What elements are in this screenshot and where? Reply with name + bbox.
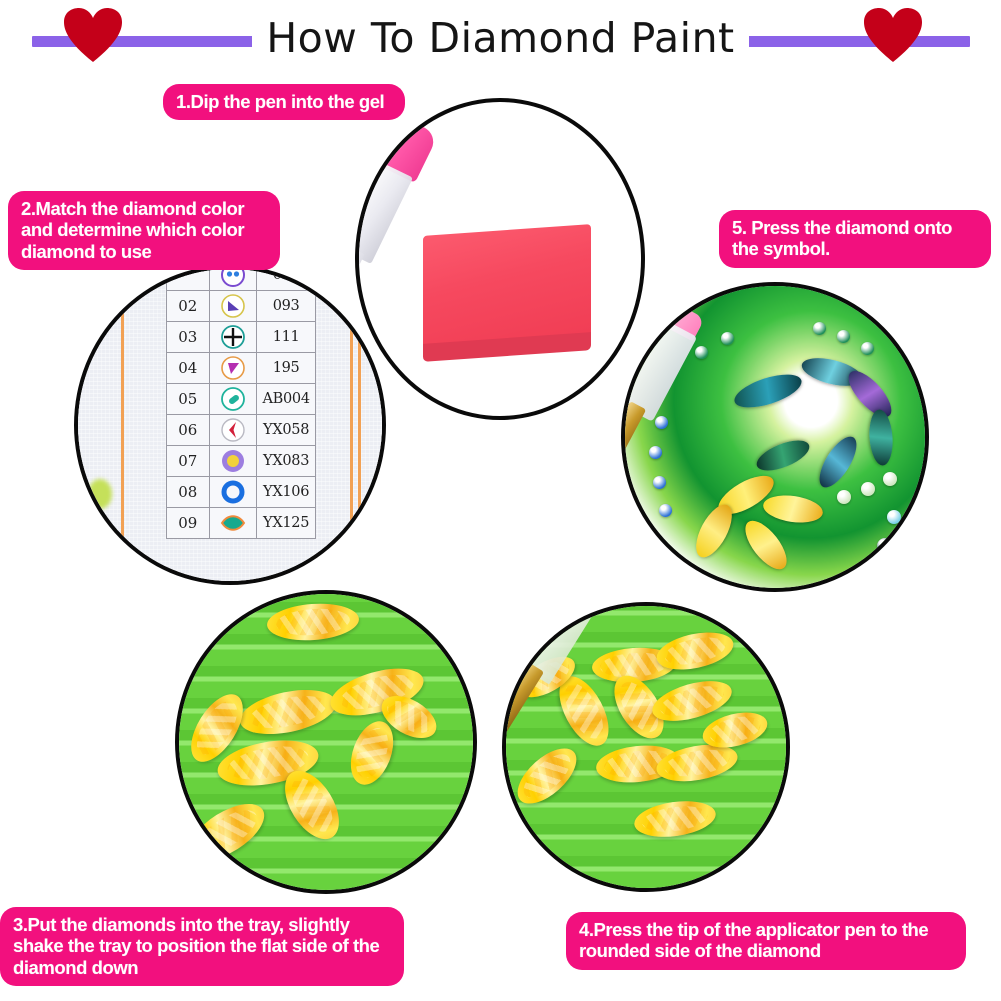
step-label-2: 2.Match the diamond color and determine … <box>8 191 280 270</box>
legend-row: 02093 <box>167 291 316 322</box>
photo-color-legend: 02802093031110419505AB00406YX05807YX0830… <box>78 269 382 581</box>
yellow-dot-ring-icon <box>220 448 246 474</box>
gem-round <box>655 416 668 429</box>
legend-dmc-id: YX058 <box>257 415 316 446</box>
legend-symbol-cell <box>209 322 257 353</box>
step-label-5: 5. Press the diamond onto the symbol. <box>719 210 991 268</box>
gem-round <box>659 504 672 517</box>
legend-code: 08 <box>167 477 210 508</box>
plus-cross-icon <box>220 324 246 350</box>
legend-symbol-cell <box>209 353 257 384</box>
gem-round <box>695 346 708 359</box>
left-chevron-icon <box>220 417 246 443</box>
legend-symbol-cell <box>209 291 257 322</box>
magenta-triangle-icon <box>220 355 246 381</box>
legend-dmc-id: 195 <box>257 353 316 384</box>
legend-symbol-cell <box>209 477 257 508</box>
legend-row: 09YX125 <box>167 508 316 539</box>
legend-dmc-id: YX125 <box>257 508 316 539</box>
photo-diamond-tray <box>179 594 473 890</box>
legend-dmc-id: 111 <box>257 322 316 353</box>
step-label-3: 3.Put the diamonds into the tray, slight… <box>0 907 404 986</box>
blue-ring-icon <box>220 479 246 505</box>
legend-row: 07YX083 <box>167 446 316 477</box>
photo-pen-picking-diamond <box>506 606 786 888</box>
legend-row: 04195 <box>167 353 316 384</box>
legend-symbol-cell <box>209 508 257 539</box>
chart-margin-line <box>350 269 353 581</box>
legend-symbol-cell <box>209 446 257 477</box>
legend-code: 04 <box>167 353 210 384</box>
teal-leaf-icon <box>220 510 246 536</box>
diagonal-capsule-icon <box>220 386 246 412</box>
pen-body <box>355 160 413 264</box>
filled-triangle-icon <box>220 293 246 319</box>
photo-circle-step-2: 02802093031110419505AB00406YX05807YX0830… <box>74 265 386 585</box>
gem-round <box>653 476 666 489</box>
gem-round <box>883 472 897 486</box>
chart-margin-line <box>358 269 361 581</box>
legend-row: 05AB004 <box>167 384 316 415</box>
legend-code: 03 <box>167 322 210 353</box>
gem-round <box>861 342 874 355</box>
legend-symbol-cell <box>209 415 257 446</box>
photo-circle-step-1 <box>355 98 645 420</box>
gem-round <box>861 482 875 496</box>
legend-row: 03111 <box>167 322 316 353</box>
legend-symbol-cell <box>209 384 257 415</box>
gem-round <box>721 332 734 345</box>
photo-press-diamond-on-canvas <box>625 286 925 588</box>
legend-code: 06 <box>167 415 210 446</box>
gem-round <box>837 490 851 504</box>
legend-row: 06YX058 <box>167 415 316 446</box>
heart-icon <box>862 6 924 64</box>
chart-margin-line <box>121 269 124 581</box>
legend-code: 07 <box>167 446 210 477</box>
gem-round <box>877 538 893 554</box>
legend-code: 05 <box>167 384 210 415</box>
gem-round <box>837 330 850 343</box>
legend-dmc-id: 093 <box>257 291 316 322</box>
legend-row: 08YX106 <box>167 477 316 508</box>
step-label-1: 1.Dip the pen into the gel <box>163 84 405 120</box>
legend-dmc-id: AB004 <box>257 384 316 415</box>
stray-diamond-green <box>88 479 112 509</box>
step-label-4: 4.Press the tip of the applicator pen to… <box>566 912 966 970</box>
legend-dmc-id: YX106 <box>257 477 316 508</box>
stray-diamond-teal <box>92 541 108 557</box>
heart-icon <box>62 6 124 64</box>
legend-code: 09 <box>167 508 210 539</box>
gem-round <box>649 446 662 459</box>
diamond-color-legend-table: 02802093031110419505AB00406YX05807YX0830… <box>166 265 316 539</box>
page-header: How To Diamond Paint <box>0 0 1001 72</box>
photo-circle-step-4 <box>502 602 790 892</box>
gem-round <box>887 510 901 524</box>
photo-pen-in-gel <box>359 102 641 416</box>
legend-dmc-id: YX083 <box>257 446 316 477</box>
gem-round <box>813 322 826 335</box>
decorative-rule-right <box>730 36 970 47</box>
photo-circle-step-3 <box>175 590 477 894</box>
photo-circle-step-5 <box>621 282 929 592</box>
legend-code: 02 <box>167 291 210 322</box>
